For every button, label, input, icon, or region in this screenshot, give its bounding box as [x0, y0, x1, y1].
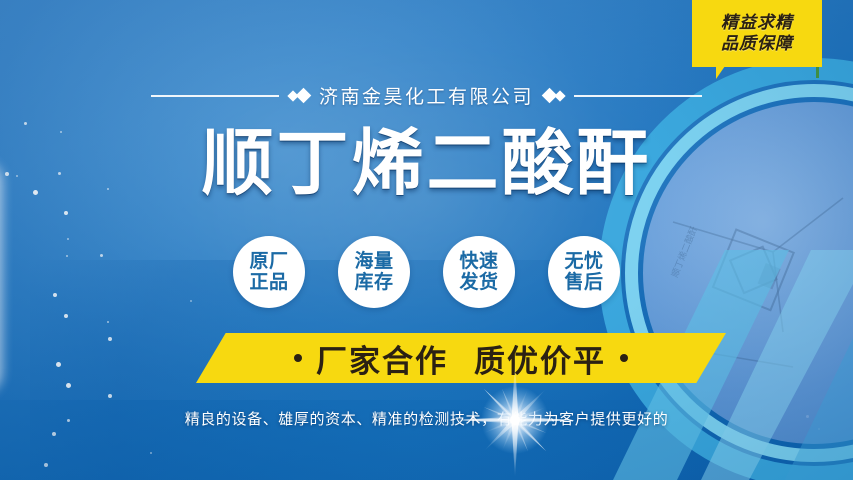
feature-badge-aftersales: 无忧 售后: [548, 236, 620, 308]
feature-badge-shipping: 快速 发货: [443, 236, 515, 308]
page-title: 顺丁烯二酸酐: [0, 126, 853, 204]
badge-label-line-2: 发货: [459, 272, 498, 293]
bullet-dot-icon: [294, 354, 302, 362]
badge-label-line-2: 库存: [354, 272, 393, 293]
badge-label-line-1: 无忧: [564, 251, 603, 272]
badge-label-line-1: 原厂: [249, 251, 288, 272]
slogan-word-2: 质优价平: [474, 336, 606, 381]
company-name-row: 济南金昊化工有限公司: [0, 82, 853, 109]
badge-label-line-2: 售后: [564, 272, 603, 293]
quality-badge-line-2: 品质保障: [721, 34, 793, 54]
diamond-group-right: [544, 90, 564, 101]
badge-label-line-1: 快速: [459, 251, 498, 272]
slogan-word-1: 厂家合作: [316, 336, 448, 381]
divider-line-right: [574, 95, 702, 97]
tagline: 精良的设备、雄厚的资本、精准的检测技术，有能力为客户提供更好的: [0, 408, 853, 429]
quality-badge-line-1: 精益求精: [721, 13, 793, 33]
badge-speech-tail: [716, 66, 734, 79]
diamond-icon: [554, 90, 565, 101]
slogan-ribbon: 厂家合作 质优价平: [196, 333, 726, 383]
promotional-banner: 顺丁烯二酸酐 精益求精 品质保障 济南金昊化工: [0, 0, 853, 480]
feature-badge-list: 原厂 正品 海量 库存 快速 发货 无忧 售后: [0, 236, 853, 308]
divider-line-left: [151, 95, 279, 97]
badge-label-line-1: 海量: [354, 251, 393, 272]
feature-badge-authentic: 原厂 正品: [233, 236, 305, 308]
diamond-group-left: [289, 90, 309, 101]
diamond-icon: [296, 88, 312, 104]
bullet-dot-icon: [620, 354, 628, 362]
feature-badge-stock: 海量 库存: [338, 236, 410, 308]
badge-label-line-2: 正品: [249, 272, 288, 293]
quality-guarantee-badge: 精益求精 品质保障: [692, 0, 822, 67]
company-name: 济南金昊化工有限公司: [319, 82, 534, 109]
